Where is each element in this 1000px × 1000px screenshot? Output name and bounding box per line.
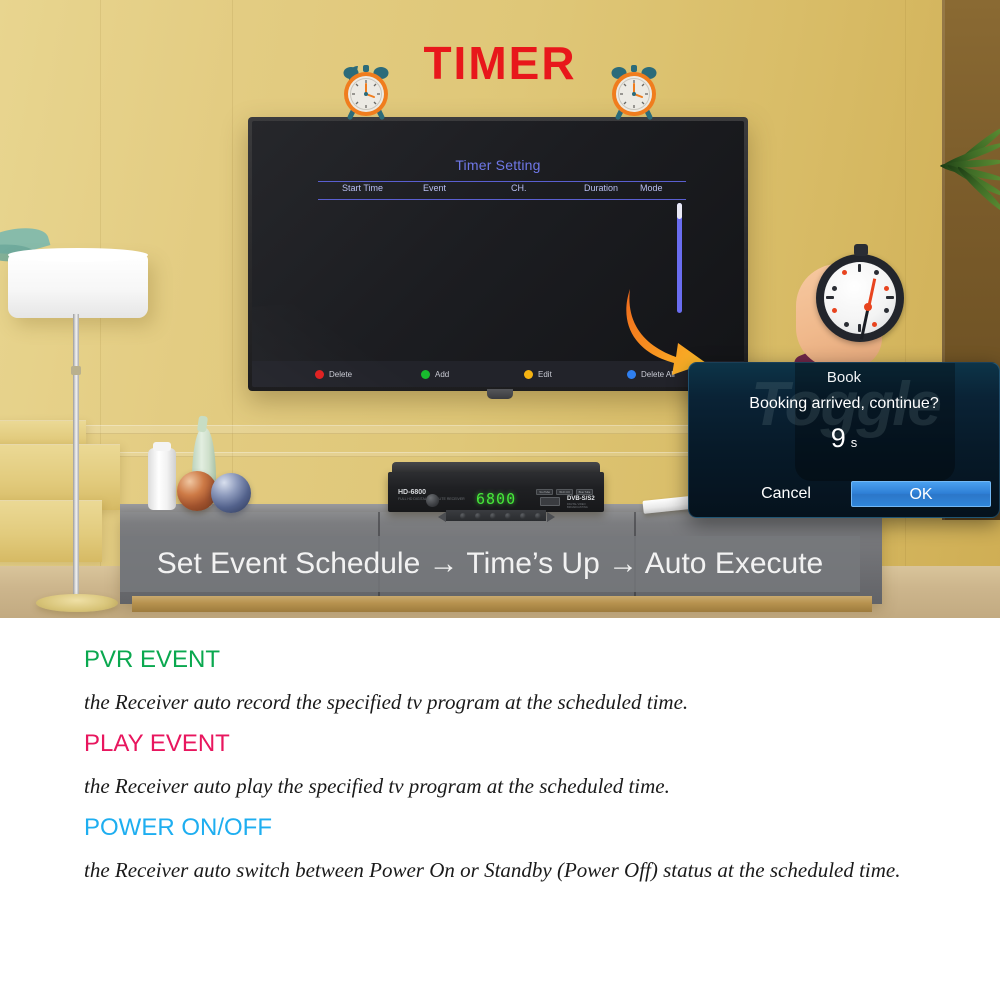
book-dialog: Toggle Book Booking arrived, continue? 9… [688, 362, 1000, 518]
page-header: TIMER [0, 30, 1000, 102]
wall-plinth-block [0, 500, 102, 562]
feature-body-pvr-event: the Receiver auto record the specified t… [84, 688, 916, 716]
receiver-led-display: 6800 [476, 490, 516, 505]
white-vase-decor [148, 448, 176, 510]
dialog-message: Booking arrived, continue? [689, 395, 999, 413]
floor-lamp-shade [8, 254, 148, 318]
receiver-front-button[interactable] [505, 513, 511, 519]
tv-stand [487, 389, 513, 399]
feature-description-list: PVR EVENT the Receiver auto record the s… [0, 618, 1000, 898]
ok-button[interactable]: OK [851, 481, 991, 507]
yellow-dot-icon [524, 370, 533, 379]
osd-title: Timer Setting [252, 157, 744, 173]
column-header-event: Event [423, 183, 446, 193]
cabinet-plinth [132, 596, 872, 612]
feature-body-power-on-off: the Receiver auto switch between Power O… [84, 856, 916, 884]
palm-plant-icon [930, 118, 1000, 278]
osd-table-header: Start Time Event CH. Duration Mode [318, 183, 686, 199]
osd-button-label: Add [435, 370, 449, 379]
dialog-actions: Cancel OK [689, 481, 999, 507]
feature-body-play-event: the Receiver auto play the specified tv … [84, 772, 916, 800]
stopwatch-crown [854, 244, 868, 256]
cancel-button[interactable]: Cancel [735, 481, 837, 507]
receiver-port-tag: You Tube [536, 489, 553, 495]
green-dot-icon [421, 370, 430, 379]
stopwatch-face [824, 262, 896, 334]
tray-left-arrow-icon [438, 512, 446, 522]
osd-rule-bottom [318, 199, 686, 200]
osd-button-add[interactable]: Add [421, 370, 449, 379]
stopwatch-center-pin [864, 303, 872, 311]
process-banner: Set Event Schedule → Time’s Up → Auto Ex… [120, 536, 860, 592]
countdown-value: 9 [831, 423, 846, 453]
receiver-brand-label: HD-6800 [398, 489, 426, 496]
infographic-page: Timer Setting Start Time Event CH. Durat… [0, 0, 1000, 1000]
receiver-front-button[interactable] [475, 513, 481, 519]
usb-port-icon [540, 497, 560, 506]
osd-button-label: Delete [329, 370, 352, 379]
blue-sphere-decor [211, 473, 251, 513]
osd-button-edit[interactable]: Edit [524, 370, 552, 379]
set-top-box-receiver: HD-6800 FULL HD DIGITAL SATELLITE RECEIV… [388, 462, 604, 514]
stopwatch [816, 254, 904, 342]
receiver-port-tag: Wi-Fi 3.0 [556, 489, 573, 495]
feature-heading-power-on-off: POWER ON/OFF [84, 814, 916, 842]
alarm-clock-icon [608, 64, 660, 122]
receiver-front-button[interactable] [460, 513, 466, 519]
receiver-front-panel: HD-6800 FULL HD DIGITAL SATELLITE RECEIV… [388, 472, 604, 512]
floor-lamp-pole [73, 314, 79, 602]
tray-right-arrow-icon [547, 512, 555, 522]
dialog-countdown: 9s [689, 423, 999, 454]
column-header-mode: Mode [640, 183, 663, 193]
receiver-knob[interactable] [426, 494, 439, 507]
receiver-front-button[interactable] [535, 513, 541, 519]
receiver-port-tag: Blue Tube [576, 489, 593, 495]
floor-lamp-switch [71, 366, 81, 375]
receiver-front-button[interactable] [520, 513, 526, 519]
process-banner-text: Set Event Schedule → Time’s Up → Auto Ex… [157, 547, 823, 581]
column-header-start-time: Start Time [342, 183, 383, 193]
red-dot-icon [315, 370, 324, 379]
room-photo-scene: Timer Setting Start Time Event CH. Durat… [0, 0, 1000, 618]
dvb-logo: DVB-S/S2 [567, 496, 595, 502]
osd-rule-top [318, 181, 686, 182]
alarm-clock-icon [340, 64, 392, 122]
column-header-ch: CH. [511, 183, 527, 193]
feature-heading-pvr-event: PVR EVENT [84, 646, 916, 674]
column-header-duration: Duration [584, 183, 618, 193]
osd-button-delete[interactable]: Delete [315, 370, 352, 379]
dialog-title: Book [689, 369, 999, 386]
countdown-unit: s [851, 435, 858, 450]
feature-heading-play-event: PLAY EVENT [84, 730, 916, 758]
osd-button-label: Edit [538, 370, 552, 379]
dvb-logo-sub: DIGITAL VIDEO BROADCASTING [567, 503, 604, 509]
page-title: TIMER [0, 36, 1000, 90]
osd-scrollbar-thumb[interactable] [677, 203, 682, 219]
receiver-front-button[interactable] [490, 513, 496, 519]
floor-lamp-base [36, 594, 118, 612]
